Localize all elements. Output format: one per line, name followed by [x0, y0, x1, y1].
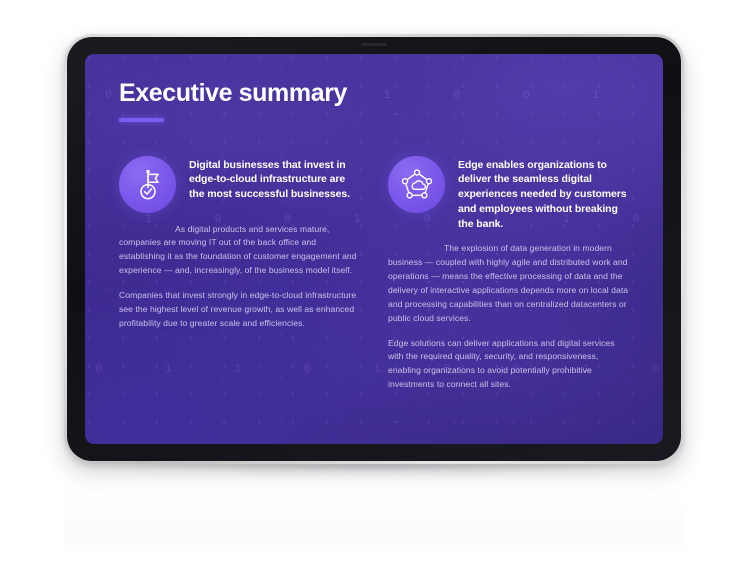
column-paragraph-left-2: Companies that invest strongly in edge-t…: [119, 289, 360, 331]
column-paragraph-left-1: As digital products and services mature,…: [119, 223, 360, 279]
title-accent-rule: [119, 118, 164, 122]
slide-content: Executive summary: [85, 54, 663, 444]
column-heading-left: Digital businesses that invest in edge-t…: [189, 156, 360, 203]
reflection-fade-overlay: [0, 466, 750, 563]
front-camera-speaker-icon: [361, 43, 387, 46]
summary-columns: Digital businesses that invest in edge-t…: [119, 156, 629, 393]
column-paragraph-right-1: The explosion of data generation in mode…: [388, 242, 629, 326]
page-title: Executive summary: [119, 80, 629, 108]
column-header-left: Digital businesses that invest in edge-t…: [119, 156, 360, 213]
column-paragraph-right-2: Edge solutions can deliver applications …: [388, 337, 629, 393]
flag-check-icon: [119, 156, 176, 213]
device-reflection: [64, 466, 684, 554]
tablet-bezel: 0 1 0 1 1 0 0 1 0 1 1 0 1 0 0 1 0 11 0 0…: [67, 37, 681, 461]
tablet-screen[interactable]: 0 1 0 1 1 0 0 1 0 1 1 0 1 0 0 1 0 11 0 0…: [85, 54, 663, 444]
tablet-device: 0 1 0 1 1 0 0 1 0 1 1 0 1 0 0 1 0 11 0 0…: [64, 34, 684, 464]
summary-column-left: Digital businesses that invest in edge-t…: [119, 156, 360, 393]
cloud-network-pentagon-icon: [388, 156, 445, 213]
column-heading-right: Edge enables organizations to deliver th…: [458, 156, 629, 233]
summary-column-right: Edge enables organizations to deliver th…: [388, 156, 629, 393]
column-header-right: Edge enables organizations to deliver th…: [388, 156, 629, 233]
presentation-stage: 0 1 0 1 1 0 0 1 0 1 1 0 1 0 0 1 0 11 0 0…: [0, 0, 750, 563]
